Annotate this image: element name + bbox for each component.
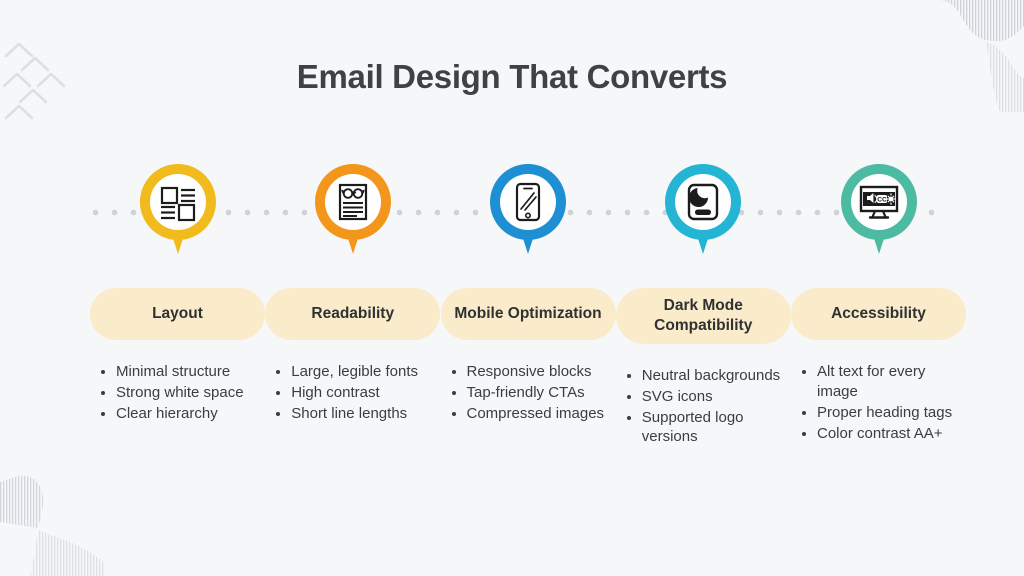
list-item: Compressed images xyxy=(467,404,616,424)
step-label-mobile-optimization: Mobile Optimization xyxy=(441,288,616,340)
list-item: Color contrast AA+ xyxy=(817,424,966,444)
step-label-dark-mode-compatibility: Dark Mode Compatibility xyxy=(616,288,791,344)
pin-marker-layout[interactable] xyxy=(136,160,220,268)
step-bullets-readability: Large, legible fonts High contrast Short… xyxy=(265,362,440,425)
step-bullets-accessibility: Alt text for every image Proper heading … xyxy=(791,362,966,445)
moon-dark-mode-icon xyxy=(689,185,717,219)
list-item: Clear hierarchy xyxy=(116,404,265,424)
step-label-accessibility: Accessibility xyxy=(791,288,966,340)
pin-marker-readability[interactable] xyxy=(311,160,395,268)
pin-marker-mobile-optimization[interactable] xyxy=(486,160,570,268)
pill-text: Mobile Optimization xyxy=(454,304,601,324)
pin-marker-accessibility[interactable]: CC xyxy=(837,160,921,268)
step-mobile-optimization[interactable]: Mobile Optimization Responsive blocks Ta… xyxy=(441,160,616,425)
list-item: Alt text for every image xyxy=(817,362,966,402)
list-item: Responsive blocks xyxy=(467,362,616,382)
steps-container: Layout Minimal structure Strong white sp… xyxy=(90,160,966,540)
step-layout[interactable]: Layout Minimal structure Strong white sp… xyxy=(90,160,265,425)
step-bullets-layout: Minimal structure Strong white space Cle… xyxy=(90,362,265,425)
step-readability[interactable]: Readability Large, legible fonts High co… xyxy=(265,160,440,425)
list-item: Large, legible fonts xyxy=(291,362,440,382)
list-item: Proper heading tags xyxy=(817,403,966,423)
step-bullets-dark-mode-compatibility: Neutral backgrounds SVG icons Supported … xyxy=(616,366,791,449)
list-item: Neutral backgrounds xyxy=(642,366,791,386)
pin-marker-dark-mode-compatibility[interactable] xyxy=(661,160,745,268)
list-item: Strong white space xyxy=(116,383,265,403)
step-bullets-mobile-optimization: Responsive blocks Tap-friendly CTAs Comp… xyxy=(441,362,616,425)
list-item: Tap-friendly CTAs xyxy=(467,383,616,403)
step-dark-mode-compatibility[interactable]: Dark Mode Compatibility Neutral backgrou… xyxy=(616,160,791,448)
step-accessibility[interactable]: CC Accessibility xyxy=(791,160,966,445)
smartphone-icon xyxy=(517,184,539,220)
step-label-readability: Readability xyxy=(265,288,440,340)
page-title: Email Design That Converts xyxy=(0,58,1024,96)
list-item: Short line lengths xyxy=(291,404,440,424)
document-reading-glasses-icon xyxy=(340,185,366,219)
step-label-layout: Layout xyxy=(90,288,265,340)
svg-text:CC: CC xyxy=(877,196,887,203)
list-item: SVG icons xyxy=(642,387,791,407)
list-item: Minimal structure xyxy=(116,362,265,382)
pill-text: Dark Mode Compatibility xyxy=(628,296,779,336)
list-item: Supported logo versions xyxy=(642,408,791,448)
list-item: High contrast xyxy=(291,383,440,403)
ribbon-stripes-decoration-bottom-left xyxy=(0,466,104,576)
